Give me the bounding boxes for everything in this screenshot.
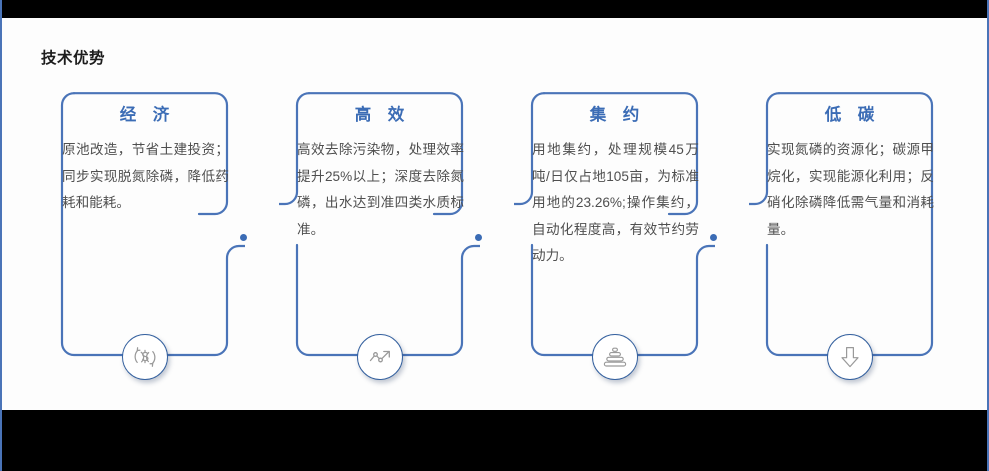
card-title: 经 济 — [44, 107, 245, 124]
advantage-card-low-carbon[interactable]: 低 碳 实现氮磷的资源化；碳源甲烷化，实现能源化利用；反硝化除磷降低需气量和消耗… — [749, 92, 950, 357]
trend-up-icon[interactable] — [357, 334, 403, 380]
card-title: 高 效 — [279, 107, 480, 124]
slide-canvas: 技术优势 经 济 原池改造，节省土建投资；同步实现脱氮除磷，降低药耗和能耗。 — [2, 18, 987, 410]
advantage-card-economy[interactable]: 经 济 原池改造，节省土建投资；同步实现脱氮除磷，降低药耗和能耗。 — [44, 92, 245, 357]
connector-dot-3 — [710, 234, 717, 241]
card-body-text: 高效去除污染物，处理效率提升25%以上；深度去除氮磷，出水达到准四类水质标准。 — [297, 137, 464, 243]
slide-page: 技术优势 经 济 原池改造，节省土建投资；同步实现脱氮除磷，降低药耗和能耗。 — [0, 0, 989, 471]
card-body-text: 用地集约，处理规模45万吨/日仅占地105亩，为标准用地的23.26%;操作集约… — [532, 137, 699, 270]
connector-dot-2 — [475, 234, 482, 241]
top-black-bar — [2, 0, 987, 18]
page-title: 技术优势 — [41, 51, 105, 67]
advantage-card-intensive[interactable]: 集 约 用地集约，处理规模45万吨/日仅占地105亩，为标准用地的23.26%;… — [514, 92, 715, 357]
bottom-black-bar — [2, 410, 987, 471]
dollar-recycle-icon[interactable] — [122, 334, 168, 380]
card-body-text: 实现氮磷的资源化；碳源甲烷化，实现能源化利用；反硝化除磷降低需气量和消耗量。 — [767, 137, 934, 243]
down-arrow-icon[interactable] — [827, 334, 873, 380]
advantage-card-efficiency[interactable]: 高 效 高效去除污染物，处理效率提升25%以上；深度去除氮磷，出水达到准四类水质… — [279, 92, 480, 357]
card-title: 低 碳 — [749, 107, 950, 124]
card-body-text: 原池改造，节省土建投资；同步实现脱氮除磷，降低药耗和能耗。 — [62, 137, 229, 217]
stacked-tower-icon[interactable] — [592, 334, 638, 380]
card-outline — [44, 92, 245, 357]
connector-dot-1 — [240, 234, 247, 241]
card-title: 集 约 — [514, 107, 715, 124]
